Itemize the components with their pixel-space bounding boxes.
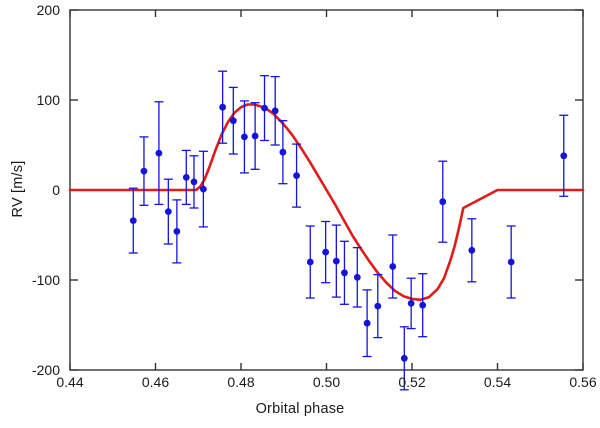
x-tick-label: 0.50 [313, 374, 340, 390]
y-tick-label: 100 [8, 92, 60, 108]
x-tick-label: 0.46 [142, 374, 169, 390]
model-curve [70, 105, 583, 300]
y-tick-label: 0 [8, 182, 60, 198]
x-tick-label: 0.48 [227, 374, 254, 390]
x-tick-label: 0.54 [484, 374, 511, 390]
x-tick-label: 0.56 [569, 374, 596, 390]
y-tick-label: -200 [8, 362, 60, 378]
x-tick-label: 0.44 [56, 374, 83, 390]
rv-phase-chart: Orbital phase RV [m/s] 0.440.460.480.500… [0, 0, 600, 428]
y-tick-label: -100 [8, 272, 60, 288]
x-tick-label: 0.52 [398, 374, 425, 390]
y-tick-label: 200 [8, 2, 60, 18]
plot-canvas [0, 0, 600, 428]
data-points [130, 104, 567, 362]
x-axis-title: Orbital phase [0, 401, 600, 417]
